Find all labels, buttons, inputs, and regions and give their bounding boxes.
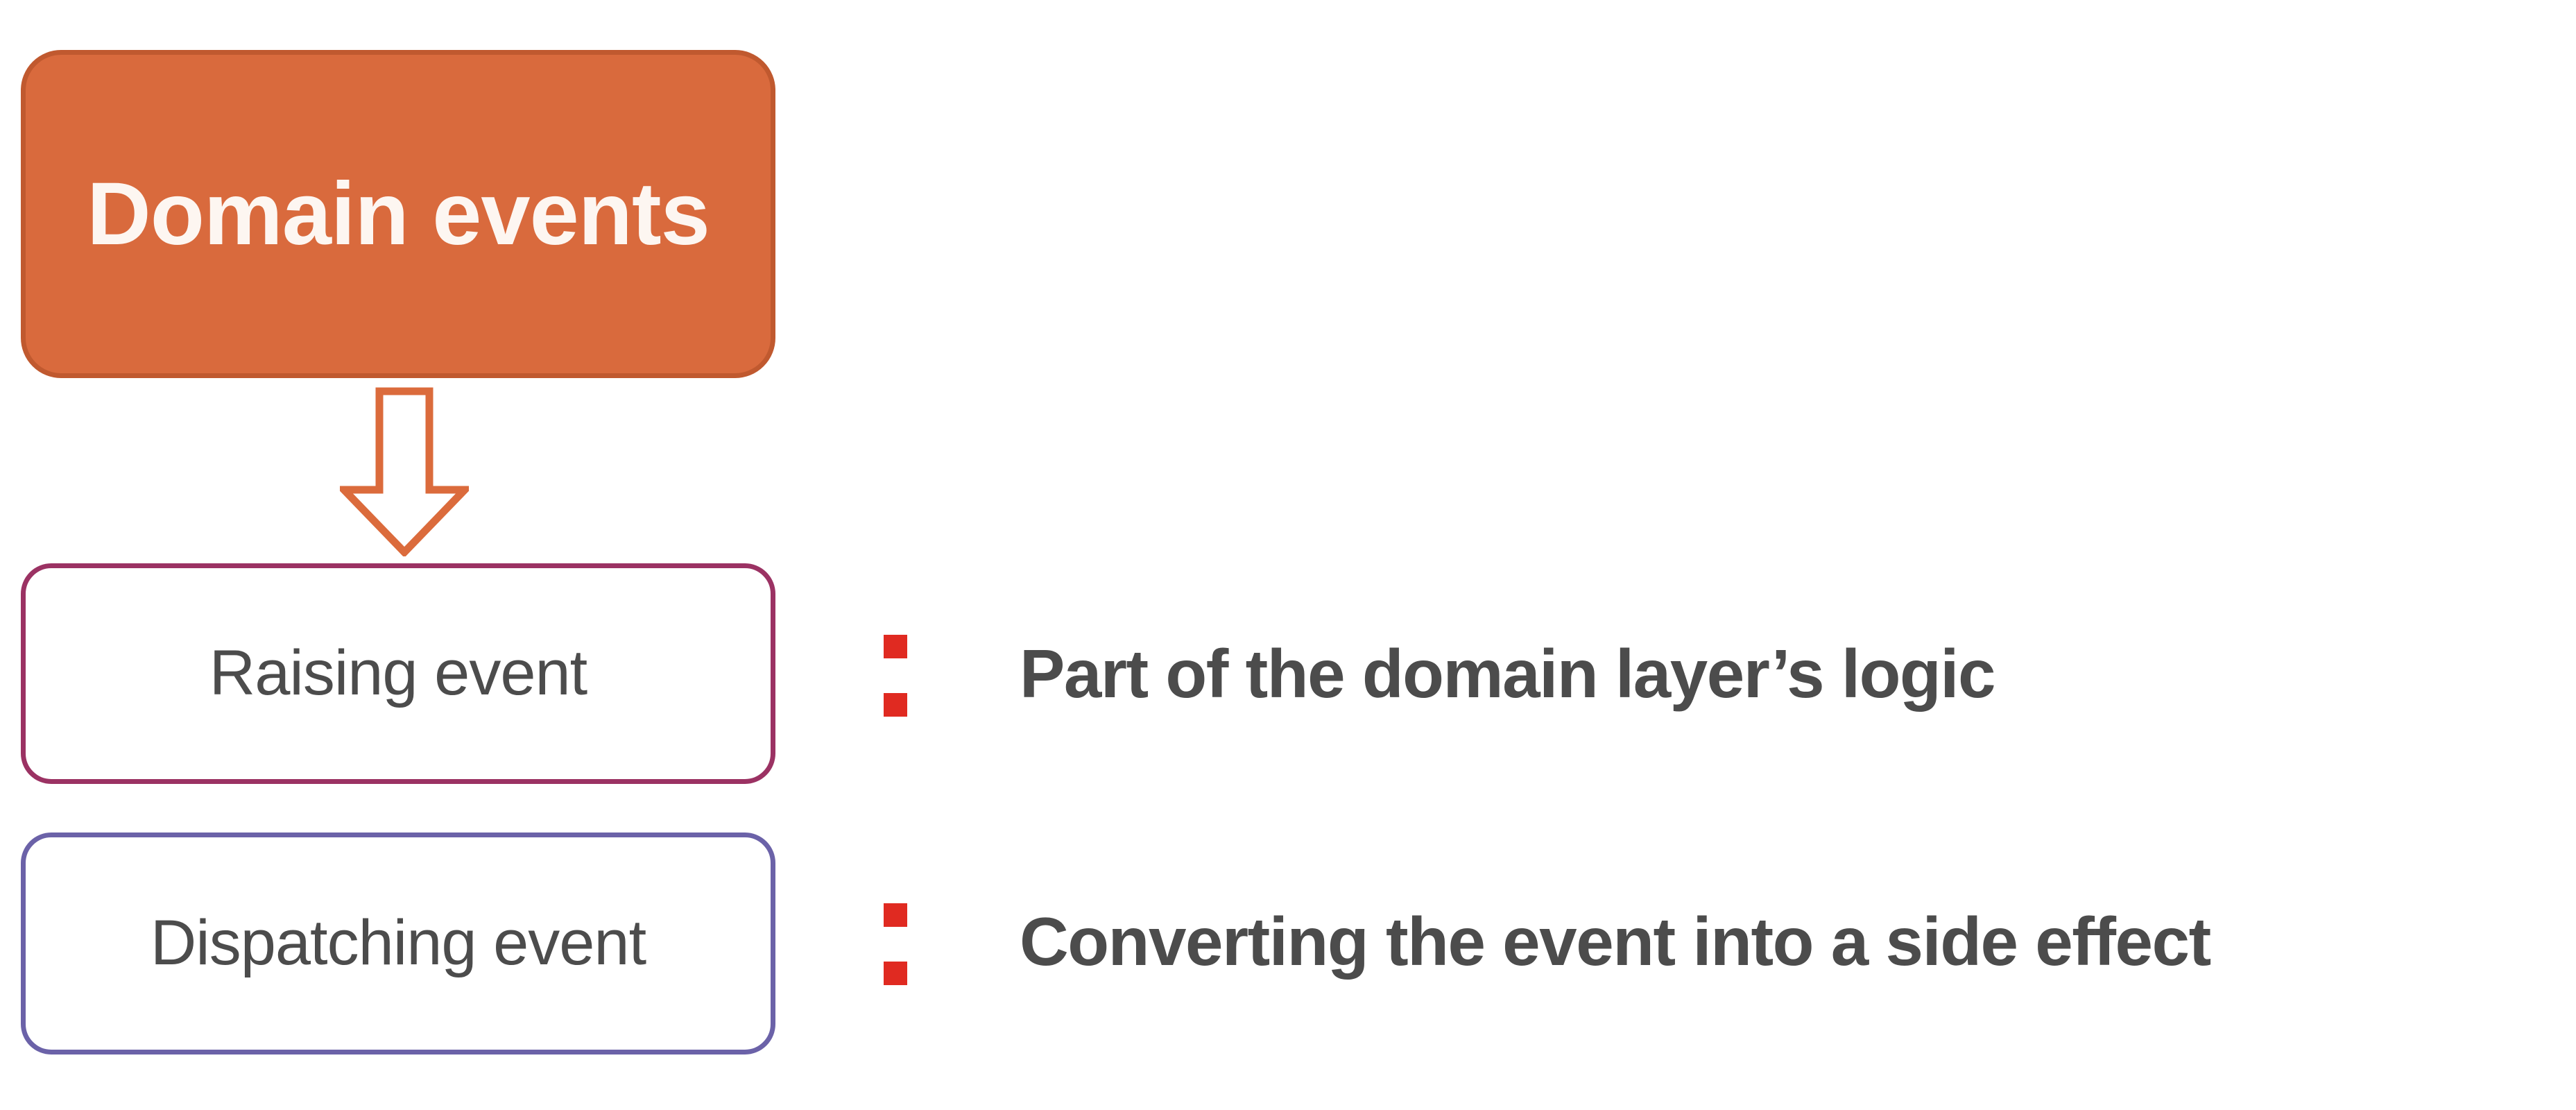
colon-square-top	[884, 903, 907, 927]
colon-square-bottom	[884, 693, 907, 717]
separator-colon-dispatching	[884, 903, 907, 985]
separator-colon-raising	[884, 635, 907, 717]
colon-square-top	[884, 635, 907, 658]
node-dispatching-event-label: Dispatching event	[151, 908, 646, 978]
node-raising-event[interactable]: Raising event	[21, 563, 775, 784]
colon-square-bottom	[884, 962, 907, 985]
description-raising-event: Part of the domain layer’s logic	[1020, 638, 1995, 710]
diagram-canvas: Domain events Raising event Part of the …	[0, 0, 2576, 1110]
node-domain-events[interactable]: Domain events	[21, 50, 775, 378]
description-dispatching-event: Converting the event into a side effect	[1020, 906, 2210, 977]
node-dispatching-event[interactable]: Dispatching event	[21, 832, 775, 1054]
node-domain-events-label: Domain events	[87, 151, 710, 277]
node-raising-event-label: Raising event	[209, 638, 587, 708]
down-arrow-icon	[340, 387, 469, 556]
